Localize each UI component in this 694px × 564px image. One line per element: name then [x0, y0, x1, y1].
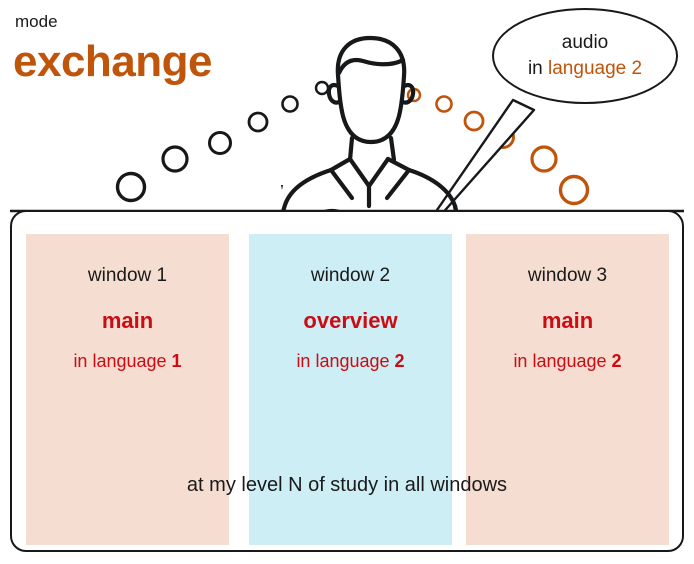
audio-speech-bubble: audio in language 2 [492, 8, 678, 104]
window-1-language: in language 1 [26, 352, 229, 370]
window-3-language-number: 2 [612, 351, 622, 371]
window-2-language-prefix: in language [296, 351, 394, 371]
mode-label: mode [15, 13, 58, 30]
mode-value-exchange: exchange [13, 40, 212, 84]
window-3-language: in language 2 [466, 352, 669, 370]
window-column-1[interactable]: window 1 main in language 1 [26, 234, 229, 545]
speech-bubble-line-2-highlight: language 2 [548, 58, 642, 79]
window-column-3[interactable]: window 3 main in language 2 [466, 234, 669, 545]
windows-panel: window 1 main in language 1 window 2 ove… [10, 210, 684, 552]
window-1-language-number: 1 [172, 351, 182, 371]
window-2-kind: overview [249, 310, 452, 332]
level-note: at my level N of study in all windows [12, 475, 682, 495]
window-1-title: window 1 [26, 266, 229, 285]
window-1-kind: main [26, 310, 229, 332]
speech-bubble-line-1: audio [492, 30, 678, 56]
thought-circles-right [408, 89, 588, 204]
speech-bubble-line-2-prefix: in [528, 58, 548, 79]
window-column-2[interactable]: window 2 overview in language 2 [249, 234, 452, 545]
window-2-language: in language 2 [249, 352, 452, 370]
speech-bubble-text: audio in language 2 [492, 30, 678, 82]
window-2-language-number: 2 [395, 351, 405, 371]
speech-bubble-line-2: in language 2 [492, 56, 678, 82]
window-2-title: window 2 [249, 266, 452, 285]
window-3-language-prefix: in language [513, 351, 611, 371]
window-3-kind: main [466, 310, 669, 332]
thought-circles-left [118, 82, 329, 201]
window-3-title: window 3 [466, 266, 669, 285]
window-1-language-prefix: in language [73, 351, 171, 371]
